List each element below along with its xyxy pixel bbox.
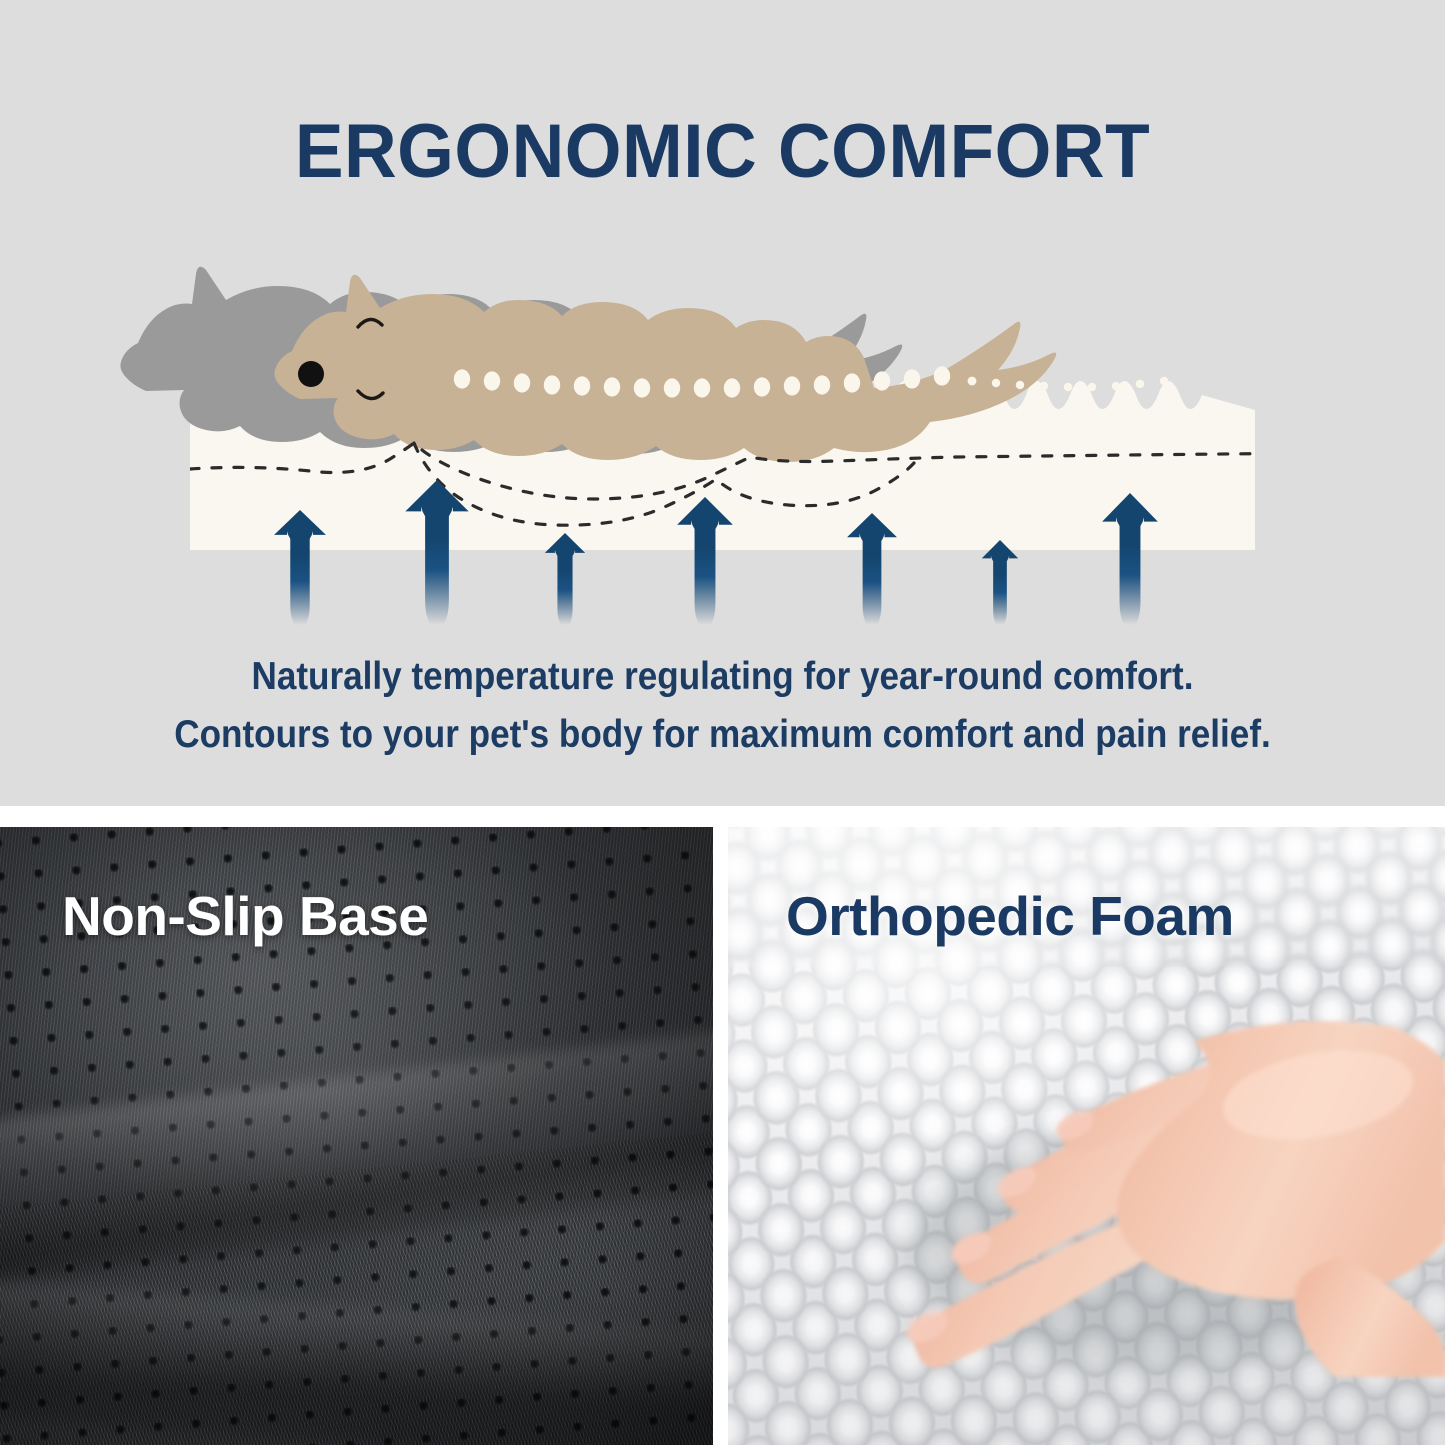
panel-non-slip-base: Non-Slip Base — [0, 827, 713, 1445]
dog-nose — [298, 361, 324, 387]
hero-section: ERGONOMIC COMFORT — [0, 0, 1445, 806]
infographic-page: ERGONOMIC COMFORT — [0, 0, 1445, 1445]
hand-thumb — [1295, 1257, 1445, 1377]
support-arrow-6 — [982, 540, 1018, 625]
hero-subtitle-line-1: Naturally temperature regulating for yea… — [72, 648, 1373, 706]
ergonomic-support-illustration — [0, 255, 1445, 635]
hero-subtitle: Naturally temperature regulating for yea… — [72, 648, 1373, 764]
feature-panels: Non-Slip Base — [0, 827, 1445, 1445]
panel-label-non-slip-base: Non-Slip Base — [62, 885, 428, 947]
panel-orthopedic-foam: Orthopedic Foam — [728, 827, 1445, 1445]
page-title: ERGONOMIC COMFORT — [29, 112, 1416, 192]
hero-subtitle-line-2: Contours to your pet's body for maximum … — [72, 706, 1373, 764]
panel-label-orthopedic-foam: Orthopedic Foam — [786, 885, 1234, 947]
